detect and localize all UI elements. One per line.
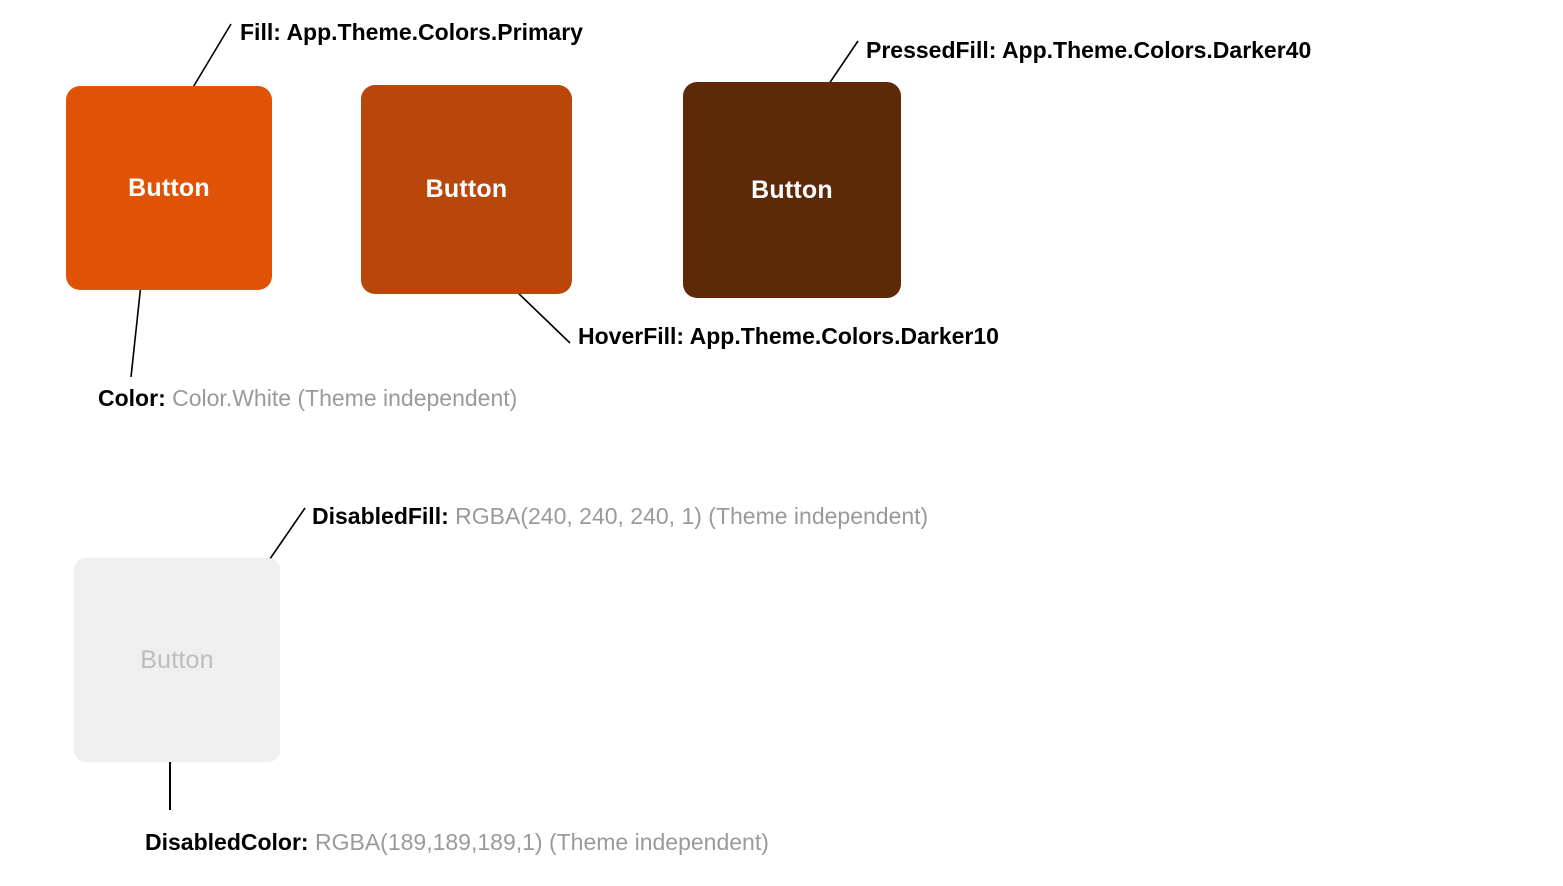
annotation-key: DisabledColor: [145, 829, 301, 855]
annotation-value: App.Theme.Colors.Darker40: [1002, 37, 1311, 63]
annotation-key: Fill: [240, 19, 273, 45]
annotation-fill: Fill: App.Theme.Colors.Primary: [240, 20, 583, 45]
annotation-separator: :: [273, 19, 286, 45]
annotation-separator: :: [441, 503, 455, 529]
button-hover-state[interactable]: Button: [361, 85, 572, 294]
annotation-disabled-fill: DisabledFill: RGBA(240, 240, 240, 1) (Th…: [312, 504, 928, 529]
annotation-disabled-color: DisabledColor: RGBA(189,189,189,1) (Them…: [145, 830, 769, 855]
button-label: Button: [128, 176, 210, 201]
annotation-value: Color.White (Theme independent): [172, 385, 517, 411]
annotation-value: App.Theme.Colors.Primary: [286, 19, 583, 45]
annotation-key: Color: [98, 385, 158, 411]
annotation-color: Color: Color.White (Theme independent): [98, 386, 517, 411]
diagram-canvas: Button Button Button Button Fill: App.Th…: [0, 0, 1563, 886]
annotation-value: App.Theme.Colors.Darker10: [690, 323, 999, 349]
button-label: Button: [140, 648, 213, 673]
button-label: Button: [426, 177, 508, 202]
annotation-key: HoverFill: [578, 323, 676, 349]
button-pressed-state[interactable]: Button: [683, 82, 901, 298]
annotation-key: DisabledFill: [312, 503, 441, 529]
annotation-separator: :: [676, 323, 689, 349]
button-normal-state[interactable]: Button: [66, 86, 272, 290]
annotation-hover-fill: HoverFill: App.Theme.Colors.Darker10: [578, 324, 999, 349]
annotation-key: PressedFill: [866, 37, 989, 63]
annotation-separator: :: [301, 829, 315, 855]
annotation-value: RGBA(189,189,189,1) (Theme independent): [315, 829, 769, 855]
annotation-separator: :: [158, 385, 172, 411]
annotation-pressed-fill: PressedFill: App.Theme.Colors.Darker40: [866, 38, 1311, 63]
button-label: Button: [751, 178, 833, 203]
button-disabled-state: Button: [74, 558, 280, 762]
annotation-value: RGBA(240, 240, 240, 1) (Theme independen…: [455, 503, 928, 529]
annotation-separator: :: [989, 37, 1002, 63]
